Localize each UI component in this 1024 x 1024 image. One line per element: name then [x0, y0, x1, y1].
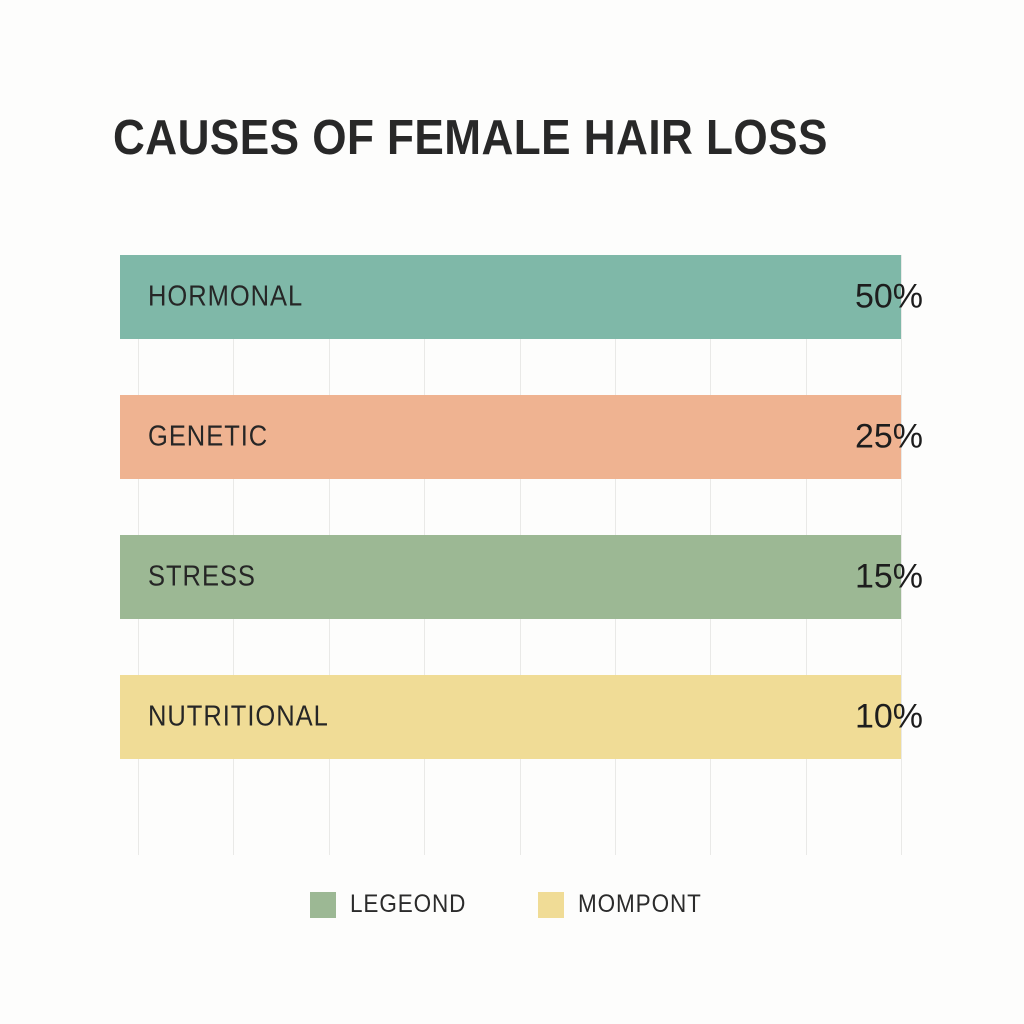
legend-item-label: MOMPONT: [578, 890, 700, 919]
legend-item[interactable]: LEGEOND: [310, 890, 479, 919]
bar-stress[interactable]: STRESS 15%: [120, 535, 901, 619]
gridline: [901, 255, 902, 855]
legend-swatch-icon: [310, 892, 336, 918]
chart-card: CAUSES OF FEMALE HAIR LOSS HORMONAL 50% …: [0, 0, 1024, 1024]
chart-legend: LEGEOND MOMPONT: [0, 890, 1024, 919]
bar-row: NUTRITIONAL 10%: [120, 675, 901, 759]
bar-row: STRESS 15%: [120, 535, 901, 619]
bar-series: HORMONAL 50% GENETIC 25% STRESS 15% NUTR…: [120, 255, 901, 855]
bar-value-label: 10%: [855, 698, 923, 737]
bar-category-label: NUTRITIONAL: [148, 701, 329, 734]
bar-category-label: STRESS: [148, 561, 256, 594]
bar-hormonal[interactable]: HORMONAL 50%: [120, 255, 901, 339]
bar-value-label: 25%: [855, 418, 923, 457]
bar-row: HORMONAL 50%: [120, 255, 901, 339]
bar-genetic[interactable]: GENETIC 25%: [120, 395, 901, 479]
bar-row: GENETIC 25%: [120, 395, 901, 479]
bar-nutritional[interactable]: NUTRITIONAL 10%: [120, 675, 901, 759]
plot-area: HORMONAL 50% GENETIC 25% STRESS 15% NUTR…: [120, 255, 901, 855]
bar-category-label: GENETIC: [148, 421, 268, 454]
page-title: CAUSES OF FEMALE HAIR LOSS: [113, 112, 833, 166]
bar-value-label: 15%: [855, 558, 923, 597]
bar-category-label: HORMONAL: [148, 281, 303, 314]
legend-item-label: LEGEOND: [350, 890, 466, 919]
legend-swatch-icon: [538, 892, 564, 918]
legend-item[interactable]: MOMPONT: [538, 890, 714, 919]
bar-value-label: 50%: [855, 278, 923, 317]
